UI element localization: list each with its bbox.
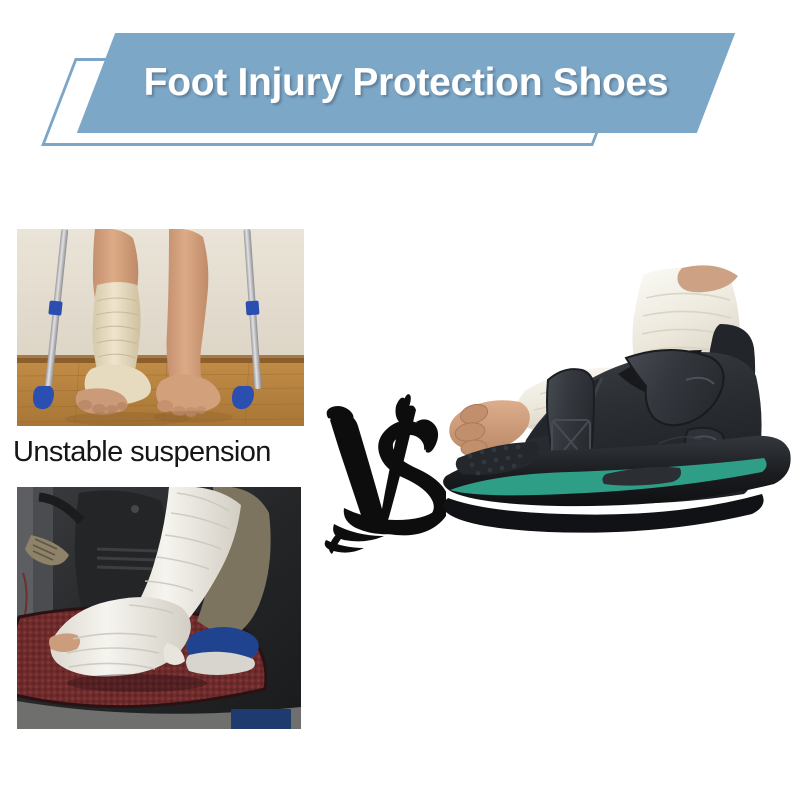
product-banner-page: Foot Injury Protection Shoes xyxy=(0,0,800,800)
post-op-cast-shoe xyxy=(430,262,800,562)
plaster-cast-leg-in-car-photo xyxy=(17,487,301,729)
page-title: Foot Injury Protection Shoes xyxy=(96,33,716,133)
vs-divider-icon xyxy=(316,392,446,557)
header-banner: Foot Injury Protection Shoes xyxy=(0,0,800,180)
crutches-bandaged-ankle-photo xyxy=(17,229,304,426)
left-side-caption: Unstable suspension xyxy=(13,436,271,469)
